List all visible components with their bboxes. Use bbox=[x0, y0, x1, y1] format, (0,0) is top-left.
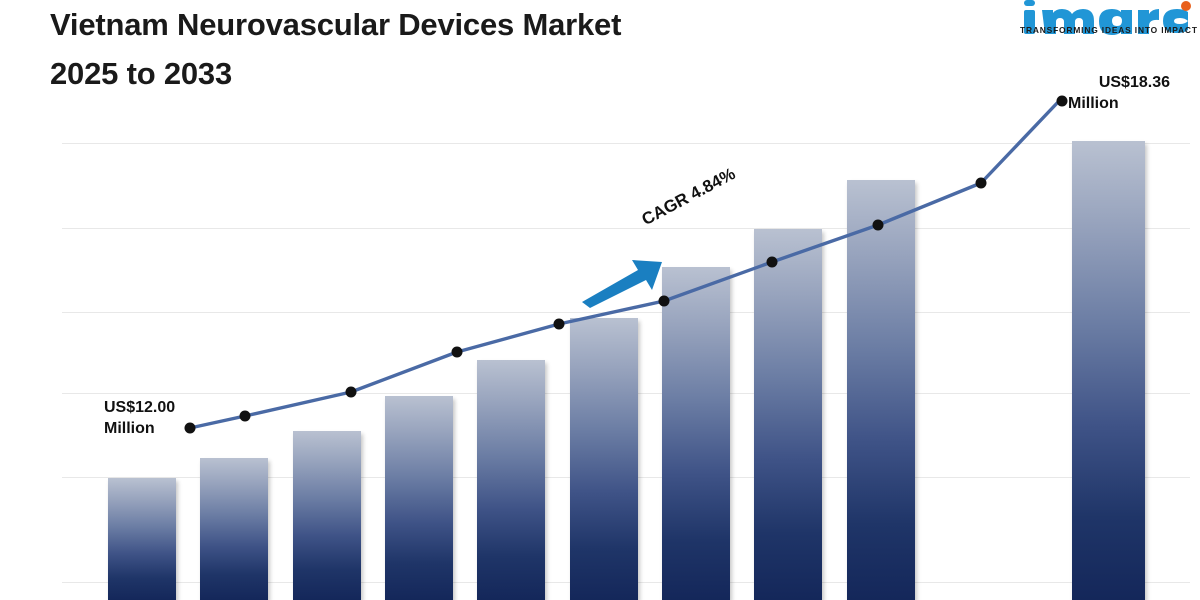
title-line-2: 2025 to 2033 bbox=[50, 49, 930, 98]
data-point-2024[interactable] bbox=[185, 423, 196, 434]
title-line-1: Vietnam Neurovascular Devices Market bbox=[50, 0, 930, 49]
last-value-label-line1: US$18.36 bbox=[1000, 72, 1170, 93]
imarc-tagline: TRANSFORMING IDEAS INTO IMPACT bbox=[1020, 25, 1192, 35]
chart-infographic: Vietnam Neurovascular Devices Market 202… bbox=[0, 0, 1200, 600]
data-point-2026[interactable] bbox=[346, 387, 357, 398]
page-title: Vietnam Neurovascular Devices Market 202… bbox=[50, 0, 930, 98]
data-point-2027[interactable] bbox=[452, 347, 463, 358]
first-value-label: US$12.00 Million bbox=[104, 397, 175, 439]
data-point-2025[interactable] bbox=[240, 411, 251, 422]
first-value-label-line1: US$12.00 bbox=[104, 397, 175, 418]
last-value-label: US$18.36 Million bbox=[1000, 72, 1170, 114]
data-point-2032[interactable] bbox=[976, 178, 987, 189]
chart-plot-area: CAGR 4.84% US$12.00 Million US$18.36 Mil… bbox=[62, 120, 1190, 600]
imarc-wordmark-icon bbox=[1020, 0, 1192, 28]
cagr-arrow-icon bbox=[580, 248, 672, 308]
data-point-2031[interactable] bbox=[873, 220, 884, 231]
data-point-2028[interactable] bbox=[554, 319, 565, 330]
first-value-label-line2: Million bbox=[104, 418, 175, 439]
last-value-label-line2: Million bbox=[1000, 93, 1170, 114]
imarc-logo[interactable]: TRANSFORMING IDEAS INTO IMPACT bbox=[1020, 0, 1192, 42]
data-point-2030[interactable] bbox=[767, 257, 778, 268]
trend-line-layer bbox=[62, 120, 1190, 600]
